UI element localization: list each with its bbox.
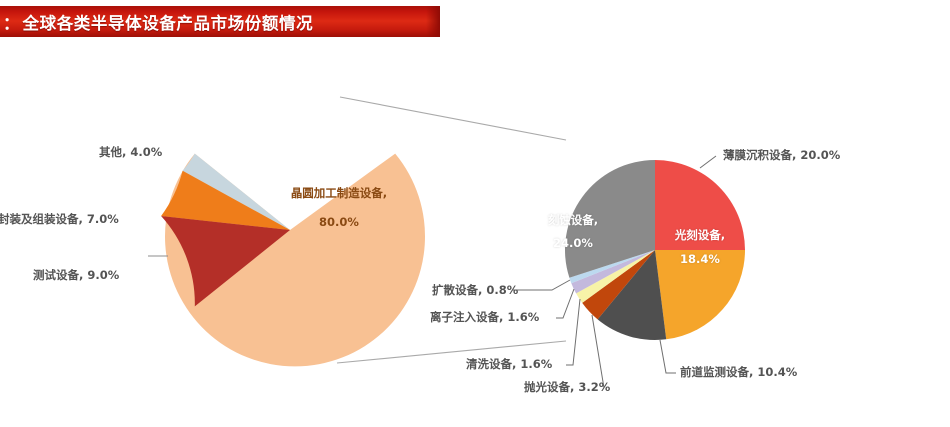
label-cleaning: 清洗设备, 1.6% (466, 357, 552, 372)
label-wafer-fab-line1: 晶圆加工制造设备, (274, 186, 404, 201)
label-wafer-fab-line2: 80.0% (274, 215, 404, 230)
label-testing: 测试设备, 9.0% (33, 268, 119, 283)
label-litho-line1: 光刻设备, (655, 228, 745, 243)
page-title: 全球各类半导体设备产品市场份额情况 (23, 10, 314, 34)
label-litho-line2: 18.4% (655, 252, 745, 267)
title-prefix-colon: ： (3, 10, 20, 34)
label-thin-film-deposition: 薄膜沉积设备, 20.0% (723, 148, 840, 163)
label-frontend-inspection: 前道监测设备, 10.4% (680, 365, 797, 380)
chart-page: ： 全球各类半导体设备产品市场份额情况 (0, 0, 950, 427)
label-polishing: 抛光设备, 3.2% (524, 380, 610, 395)
label-etch-line2: 24.0% (528, 236, 618, 251)
label-other: 其他, 4.0% (99, 145, 162, 160)
label-packaging-assembly: 封装及组装设备, 7.0% (0, 212, 119, 227)
label-diffusion: 扩散设备, 0.8% (432, 283, 518, 298)
label-ion-implantation: 离子注入设备, 1.6% (430, 310, 539, 325)
label-etch-line1: 刻蚀设备, (528, 213, 618, 228)
